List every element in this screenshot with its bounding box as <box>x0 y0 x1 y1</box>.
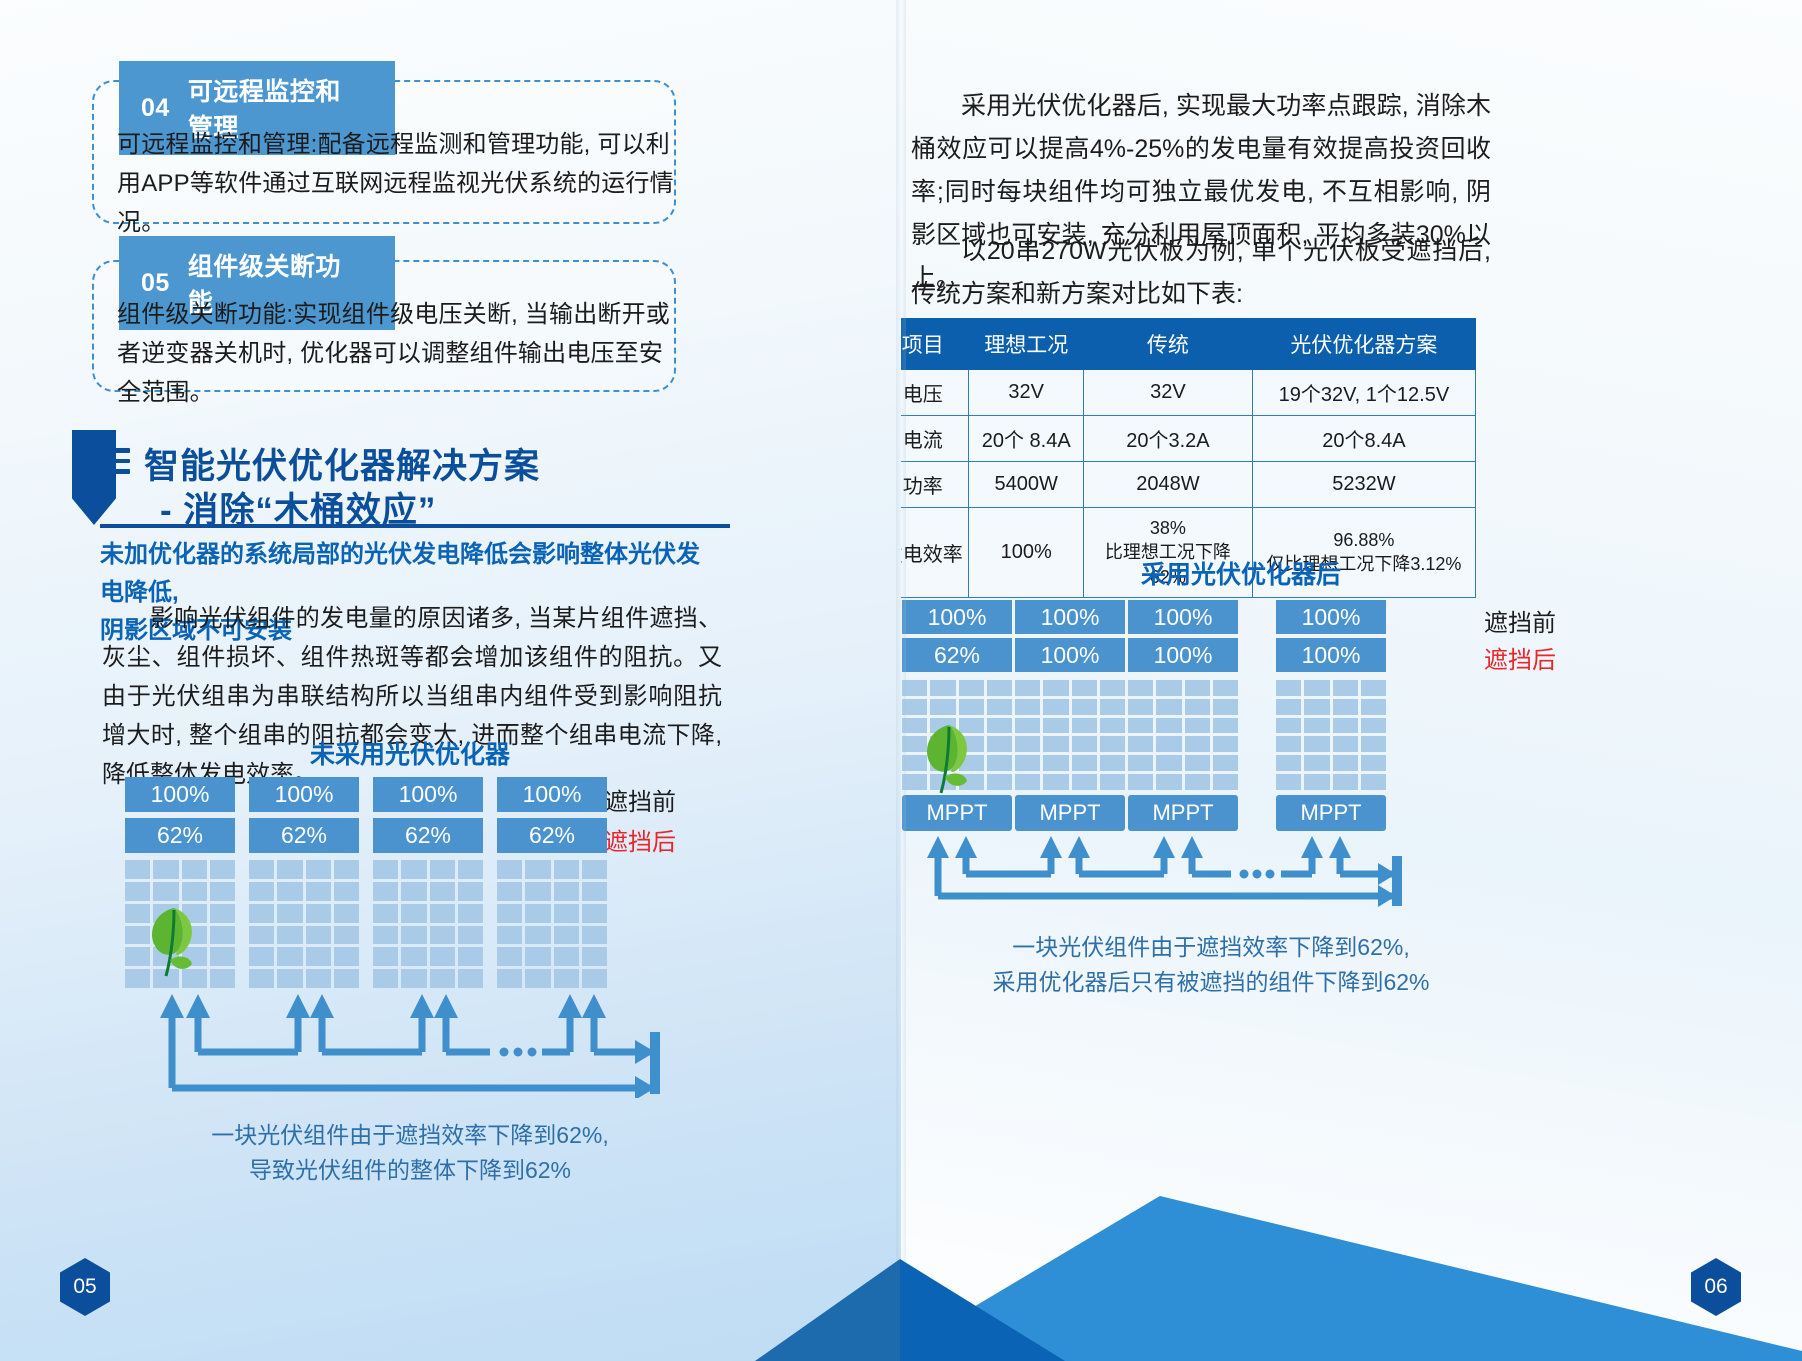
right-page: 采用光伏优化器后, 实现最大功率点跟踪, 消除木桶效应可以提高4%-25%的发电… <box>901 0 1802 1361</box>
right-diagram-title: 采用光伏优化器后 <box>981 555 1501 591</box>
left-pill-before-0: 100% <box>125 777 235 812</box>
right-pill-before-1: 100% <box>1015 600 1125 634</box>
row0-traditional: 32V <box>1083 370 1252 416</box>
page-gutter <box>896 0 906 1361</box>
leaf-icon <box>909 715 989 795</box>
table-header-row: 项目 理想工况 传统 光伏优化器方案 <box>901 319 1476 370</box>
left-page: 04 可远程监控和管理 可远程监控和管理:配备远程监测和管理功能, 可以利用AP… <box>0 0 901 1361</box>
right-mppt-2: MPPT <box>1128 795 1238 831</box>
row0-label: 电压 <box>901 370 969 416</box>
left-diagram-caption: 一块光伏组件由于遮挡效率下降到62%, 导致光伏组件的整体下降到62% <box>150 1118 670 1187</box>
leaf-icon <box>134 898 214 978</box>
table-row: 电流 20个 8.4A 20个3.2A 20个8.4A <box>901 416 1476 462</box>
right-caption-line2: 采用优化器后只有被遮挡的组件下降到62% <box>931 965 1491 1000</box>
right-solar-panel-3 <box>1276 680 1386 790</box>
row3-optimizer-main: 96.88% <box>1257 528 1471 552</box>
left-pill-before-3: 100% <box>497 777 607 812</box>
row2-label: 功率 <box>901 462 969 508</box>
left-pill-after-2: 62% <box>373 818 483 853</box>
right-paragraph-2: 以20串270W光伏板为例, 单个光伏板受遮挡后, 传统方案和新方案对比如下表: <box>911 230 1491 316</box>
right-pill-after-3: 100% <box>1276 638 1386 672</box>
table-header-0: 项目 <box>901 319 969 370</box>
left-pill-before-2: 100% <box>373 777 483 812</box>
section-divider <box>100 524 730 528</box>
left-caption-line1: 一块光伏组件由于遮挡效率下降到62%, <box>150 1118 670 1153</box>
row3-label: 发电效率 <box>901 508 969 598</box>
right-solar-panel-2 <box>1128 680 1238 790</box>
left-solar-panel-1 <box>249 860 359 988</box>
left-wiring-diagram <box>110 988 680 1098</box>
right-legend-before: 遮挡前 <box>1484 603 1556 638</box>
right-pill-after-0: 62% <box>902 638 1012 672</box>
right-caption-line1: 一块光伏组件由于遮挡效率下降到62%, <box>931 930 1491 965</box>
right-mppt-0: MPPT <box>902 795 1012 831</box>
row0-ideal: 32V <box>969 370 1084 416</box>
right-pill-before-2: 100% <box>1128 600 1238 634</box>
right-pill-before-3: 100% <box>1276 600 1386 634</box>
page-number-left: 05 <box>60 1258 110 1316</box>
row2-ideal: 5400W <box>969 462 1084 508</box>
left-pill-after-3: 62% <box>497 818 607 853</box>
row2-optimizer: 5232W <box>1252 462 1475 508</box>
table-header-3: 光伏优化器方案 <box>1252 319 1475 370</box>
right-mppt-1: MPPT <box>1015 795 1125 831</box>
row0-optimizer: 19个32V, 1个12.5V <box>1252 370 1475 416</box>
row2-traditional: 2048W <box>1083 462 1252 508</box>
left-legend-after: 遮挡后 <box>604 822 676 857</box>
left-legend-before: 遮挡前 <box>604 782 676 817</box>
table-row: 功率 5400W 2048W 5232W <box>901 462 1476 508</box>
left-solar-panel-3 <box>497 860 607 988</box>
right-legend-after: 遮挡后 <box>1484 640 1556 675</box>
feature-card-05-number: 05 <box>141 269 170 298</box>
left-pill-after-1: 62% <box>249 818 359 853</box>
table-header-1: 理想工况 <box>969 319 1084 370</box>
table-row: 电压 32V 32V 19个32V, 1个12.5V <box>901 370 1476 416</box>
left-pill-before-1: 100% <box>249 777 359 812</box>
right-pill-after-1: 100% <box>1015 638 1125 672</box>
row1-ideal: 20个 8.4A <box>969 416 1084 462</box>
row3-traditional-main: 38% <box>1088 516 1248 540</box>
right-pill-after-2: 100% <box>1128 638 1238 672</box>
left-solar-panel-2 <box>373 860 483 988</box>
row1-optimizer: 20个8.4A <box>1252 416 1475 462</box>
row1-traditional: 20个3.2A <box>1083 416 1252 462</box>
feature-card-05-body: 组件级关断功能:实现组件级电压关断, 当输出断开或者逆变器关机时, 优化器可以调… <box>117 296 677 413</box>
left-caption-line2: 导致光伏组件的整体下降到62% <box>150 1153 670 1188</box>
row1-label: 电流 <box>901 416 969 462</box>
feature-card-04-body: 可远程监控和管理:配备远程监测和管理功能, 可以利用APP等软件通过互联网远程监… <box>117 126 677 243</box>
table-header-2: 传统 <box>1083 319 1252 370</box>
right-solar-panel-1 <box>1015 680 1125 790</box>
left-pill-after-0: 62% <box>125 818 235 853</box>
right-mppt-3: MPPT <box>1276 795 1386 831</box>
right-pill-before-0: 100% <box>902 600 1012 634</box>
right-diagram-caption: 一块光伏组件由于遮挡效率下降到62%, 采用优化器后只有被遮挡的组件下降到62% <box>931 930 1491 999</box>
hamburger-icon <box>100 448 130 480</box>
right-wiring-diagram <box>901 832 1436 912</box>
left-diagram-title: 未采用光伏优化器 <box>200 735 620 771</box>
page-number-right: 06 <box>1691 1258 1741 1316</box>
feature-card-04-number: 04 <box>141 94 170 123</box>
